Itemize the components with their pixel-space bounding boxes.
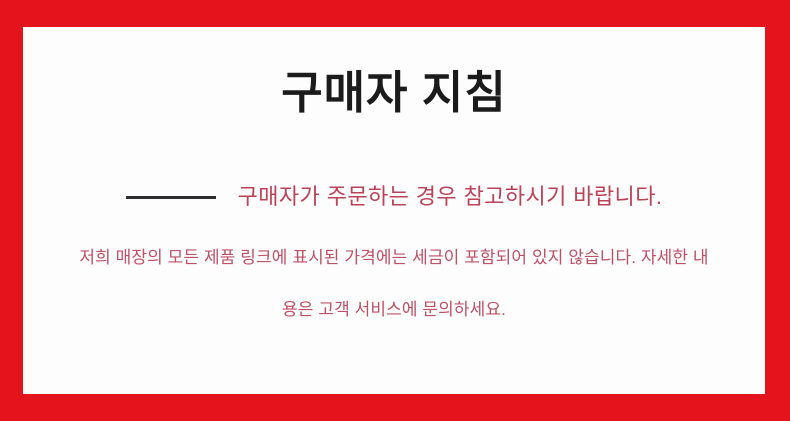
subtitle-text: 구매자가 주문하는 경우 참고하시기 바랍니다. [238, 183, 663, 212]
notice-body-line-1: 저희 매장의 모든 제품 링크에 표시된 가격에는 세금이 포함되어 있지 않습… [57, 249, 731, 266]
page-title-row: 구매자 지침 [23, 69, 765, 116]
page-title: 구매자 지침 [281, 69, 507, 116]
notice-body: 저희 매장의 모든 제품 링크에 표시된 가격에는 세금이 포함되어 있지 않습… [57, 249, 731, 318]
divider-rule [126, 196, 216, 199]
notice-banner: 구매자 지침 구매자가 주문하는 경우 참고하시기 바랍니다. 저희 매장의 모… [0, 0, 790, 421]
notice-body-line-2: 용은 고객 서비스에 문의하세요. [57, 301, 731, 318]
subtitle-row: 구매자가 주문하는 경우 참고하시기 바랍니다. [23, 183, 765, 212]
notice-card: 구매자 지침 구매자가 주문하는 경우 참고하시기 바랍니다. 저희 매장의 모… [23, 27, 765, 394]
